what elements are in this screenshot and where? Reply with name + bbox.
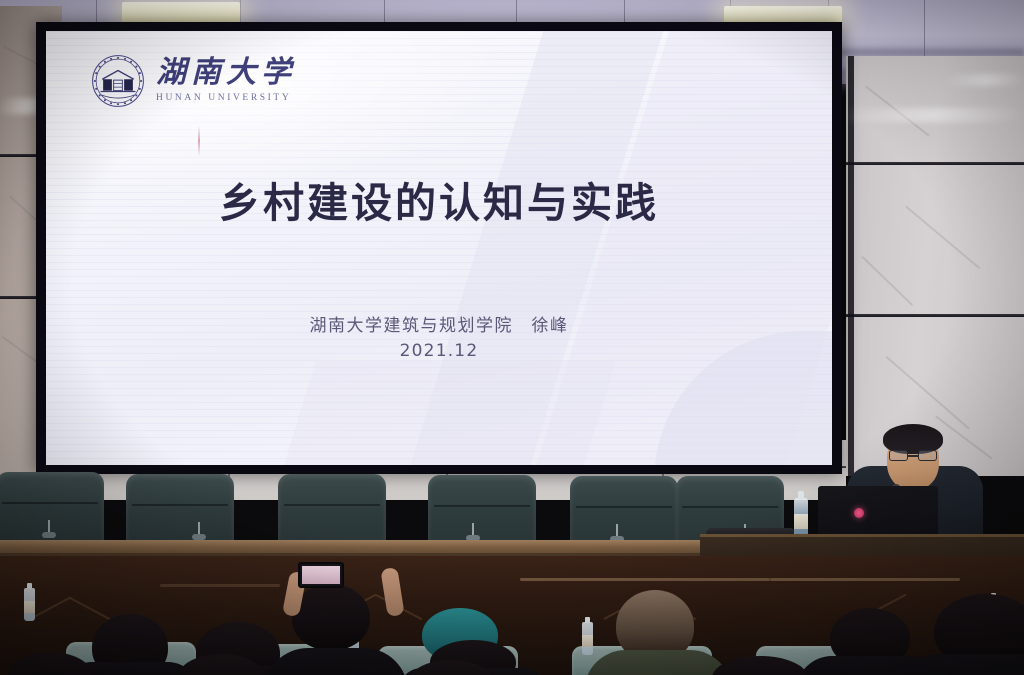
chair	[278, 474, 386, 548]
laptop-logo-icon	[854, 508, 864, 518]
wall-trim	[770, 578, 960, 581]
slide-ribbon-3	[276, 361, 616, 465]
presenter-glasses-icon	[889, 450, 937, 461]
lecture-hall-scene: 湖南大学 HUNAN UNIVERSITY 乡村建设的认知与实践 湖南大学建筑与…	[0, 0, 1024, 675]
university-logo: 湖南大学 HUNAN UNIVERSITY	[90, 53, 296, 109]
wall-right-marble	[846, 56, 1024, 476]
desk-microphone	[192, 522, 206, 540]
chair	[428, 475, 536, 549]
desk-microphone	[42, 520, 56, 538]
audience-foreground: 10 10	[0, 556, 1024, 675]
audience-head-photographer	[292, 584, 370, 650]
slide-title: 乡村建设的认知与实践	[46, 169, 832, 229]
chair	[570, 476, 678, 550]
projected-slide: 湖南大学 HUNAN UNIVERSITY 乡村建设的认知与实践 湖南大学建筑与…	[46, 31, 832, 465]
chair	[126, 474, 234, 548]
logo-institution-cn: 湖南大学	[156, 58, 296, 88]
audience-water-bottle	[582, 622, 593, 655]
logo-divider	[198, 126, 200, 156]
slide-date: 2021.12	[46, 341, 832, 361]
hunan-university-seal-icon	[90, 53, 146, 109]
desk-microphone	[466, 523, 480, 541]
wall-trim	[520, 578, 770, 581]
slide-presenter-line: 湖南大学建筑与规划学院 徐峰	[46, 311, 832, 336]
logo-institution-en: HUNAN UNIVERSITY	[156, 94, 296, 104]
wall-trim	[160, 584, 280, 587]
ceiling-light-left	[122, 2, 240, 24]
audience-water-bottle	[24, 588, 35, 621]
audience-phone	[298, 562, 344, 588]
